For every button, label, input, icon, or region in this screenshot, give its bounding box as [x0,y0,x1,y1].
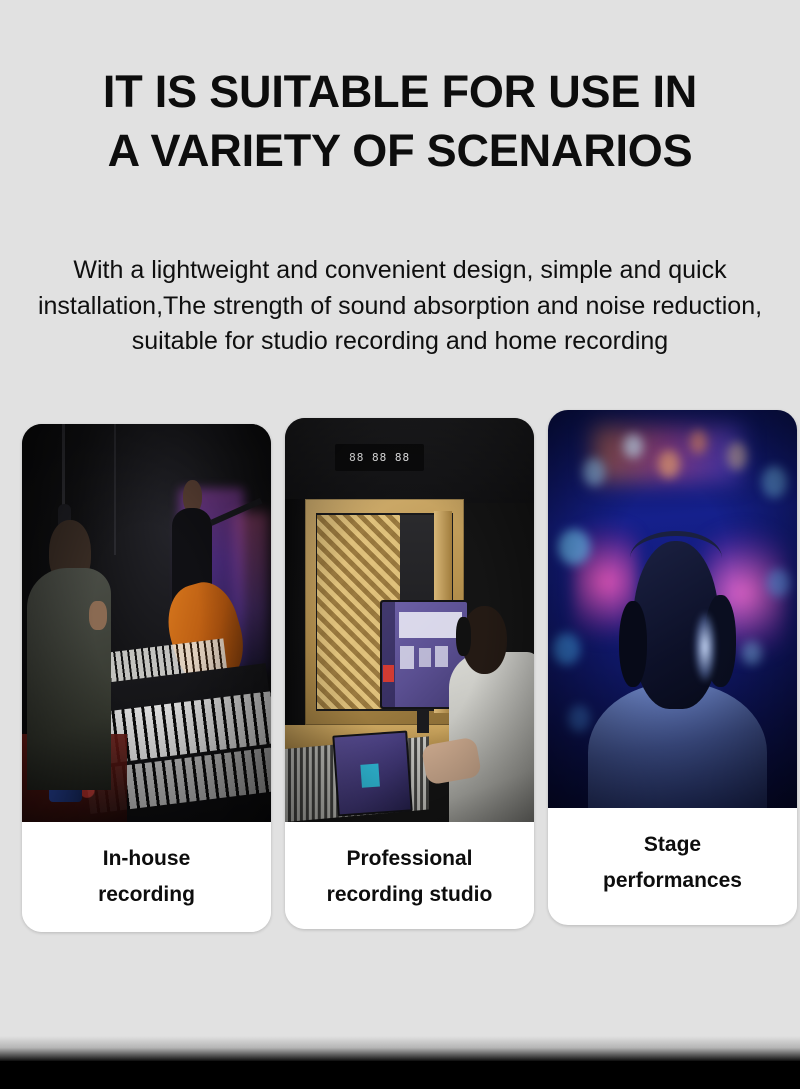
card-caption-in-house-recording: In-house recording [22,822,271,932]
page-title-line-2: A VARIETY OF SCENARIOS [0,121,800,180]
scenario-card-stage-performances[interactable]: Stage performances [548,410,797,925]
scenario-card-in-house-recording[interactable]: In-house recording [22,424,271,932]
scenario-card-professional-recording-studio[interactable]: 88 88 88 [285,418,534,929]
scenario-card-row: In-house recording 88 88 88 [22,410,782,935]
card-caption-stage-performances: Stage performances [548,808,797,918]
card-image-in-house-recording [22,424,271,822]
page-title-line-1: IT IS SUITABLE FOR USE IN [0,62,800,121]
footer-fade-divider [0,1036,800,1062]
card-image-professional-recording-studio: 88 88 88 [285,418,534,822]
card-caption-line-2: recording [98,884,195,906]
promo-page: IT IS SUITABLE FOR USE IN A VARIETY OF S… [0,0,800,1089]
card-image-stage-performances [548,410,797,808]
card-caption-line-1: Professional [346,848,472,870]
footer-bar [0,1061,800,1089]
description-text: With a lightweight and convenient design… [26,253,774,360]
card-caption-line-1: Stage [644,834,701,856]
card-caption-line-2: performances [603,870,742,892]
page-title: IT IS SUITABLE FOR USE IN A VARIETY OF S… [0,62,800,181]
card-caption-line-2: recording studio [327,884,493,906]
card-caption-line-1: In-house [103,848,191,870]
card-caption-professional-recording-studio: Professional recording studio [285,822,534,929]
